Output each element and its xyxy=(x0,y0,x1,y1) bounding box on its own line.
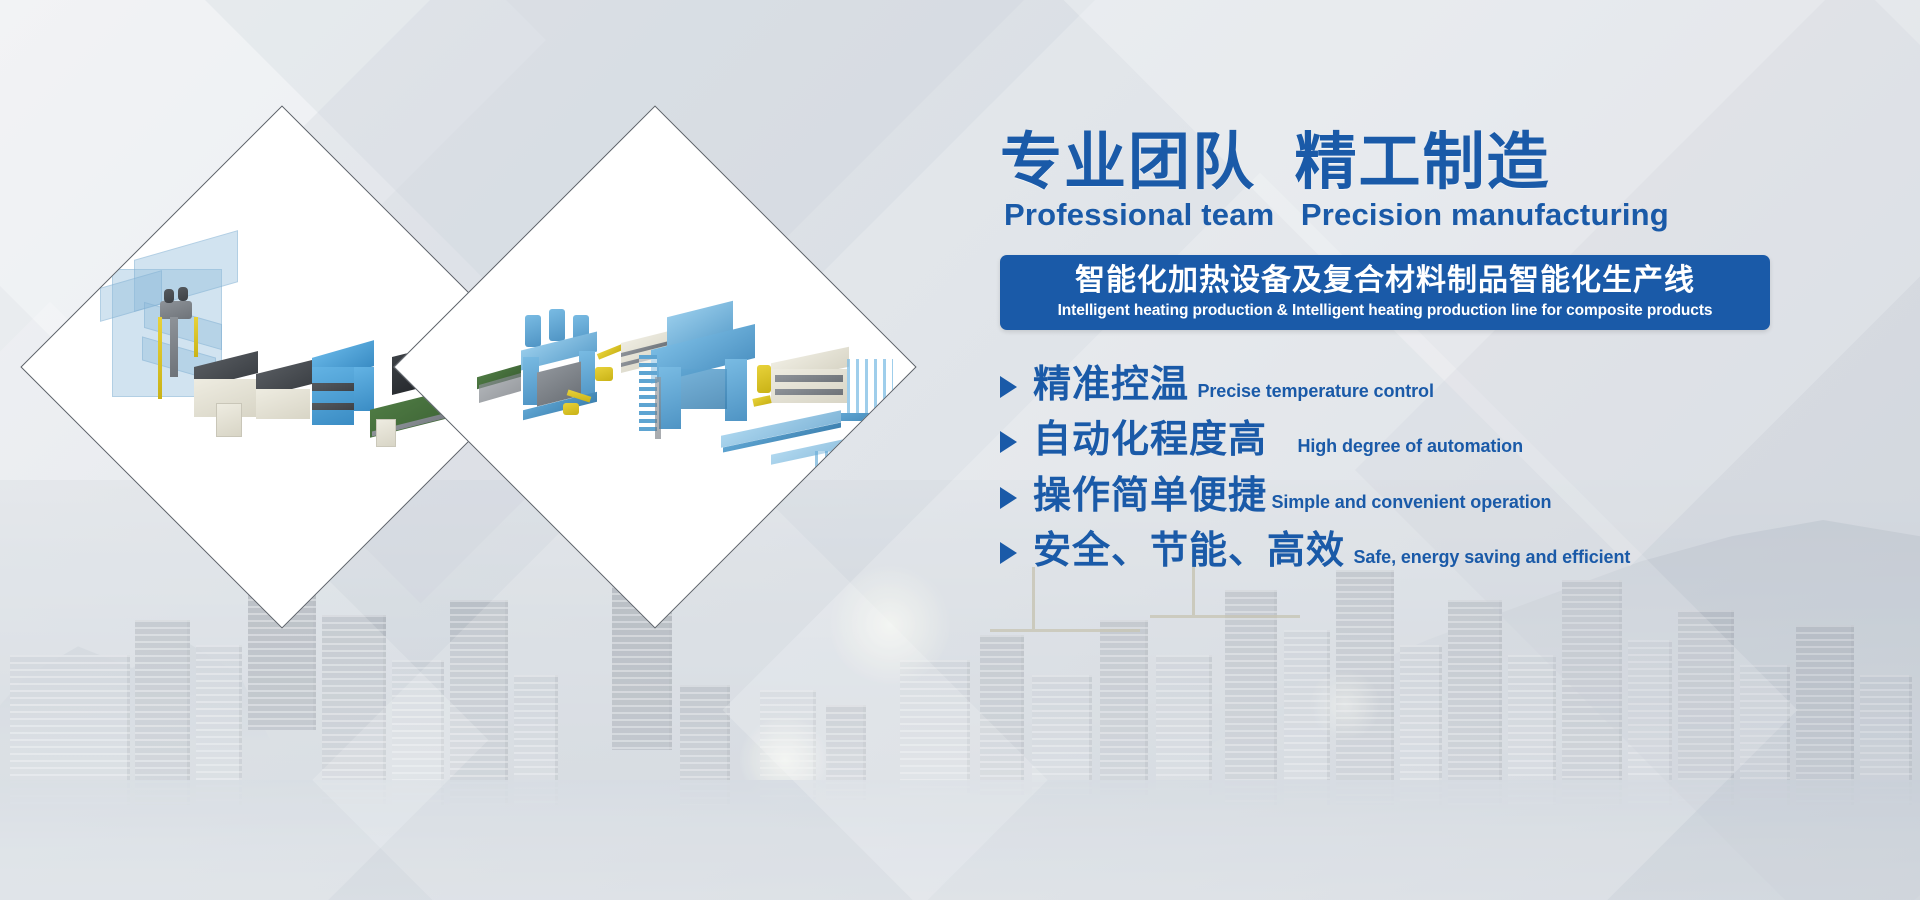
page-title: 专业团队 精工制造 xyxy=(1000,130,1880,195)
construction-crane xyxy=(1150,615,1300,618)
feature-label-cn: 精准控温 xyxy=(1033,364,1189,406)
list-item: 自动化程度高 High degree of automation xyxy=(1000,419,1880,462)
building xyxy=(1448,600,1502,805)
highlight-title-cn: 智能化加热设备及复合材料制品智能化生产线 xyxy=(1014,264,1756,299)
building xyxy=(135,620,190,805)
list-item: 安全、节能、高效 Safe, energy saving and efficie… xyxy=(1000,530,1880,573)
building xyxy=(1032,675,1092,795)
feature-label-en: Precise temperature control xyxy=(1197,381,1433,401)
feature-label-cn: 自动化程度高 xyxy=(1033,419,1267,461)
building xyxy=(1562,580,1622,805)
building xyxy=(1100,620,1148,795)
building xyxy=(1225,590,1277,805)
page-subtitle: Professional team Precision manufacturin… xyxy=(1004,197,1880,233)
building xyxy=(322,615,386,805)
product-render-composite-line xyxy=(471,217,839,517)
banner-text-column: 专业团队 精工制造 Professional team Precision ma… xyxy=(1000,130,1880,586)
triangle-right-icon xyxy=(1000,431,1017,453)
list-item: 操作简单便捷 Simple and convenient operation xyxy=(1000,475,1880,518)
feature-label-cn: 安全、节能、高效 xyxy=(1033,530,1345,572)
feature-label-en: Safe, energy saving and efficient xyxy=(1353,547,1630,567)
feature-list: 精准控温 Precise temperature control 自动化程度高 … xyxy=(1000,364,1880,573)
building xyxy=(980,635,1024,795)
triangle-right-icon xyxy=(1000,542,1017,564)
building xyxy=(1678,610,1734,805)
waterfront xyxy=(0,780,1920,900)
triangle-right-icon xyxy=(1000,487,1017,509)
triangle-right-icon xyxy=(1000,376,1017,398)
building xyxy=(450,600,508,805)
light-flare xyxy=(1310,670,1380,740)
feature-label-en: Simple and convenient operation xyxy=(1271,492,1551,512)
building xyxy=(1796,625,1854,805)
highlight-title-en: Intelligent heating production & Intelli… xyxy=(1014,302,1756,320)
light-flare xyxy=(830,565,950,685)
list-item: 精准控温 Precise temperature control xyxy=(1000,364,1880,407)
building xyxy=(1156,655,1212,795)
highlight-banner: 智能化加热设备及复合材料制品智能化生产线 Intelligent heating… xyxy=(1000,255,1770,330)
feature-label-en: High degree of automation xyxy=(1297,436,1523,456)
feature-label-cn: 操作简单便捷 xyxy=(1033,475,1267,517)
promo-banner: 专业团队 精工制造 Professional team Precision ma… xyxy=(0,0,1920,900)
construction-crane xyxy=(990,629,1140,632)
